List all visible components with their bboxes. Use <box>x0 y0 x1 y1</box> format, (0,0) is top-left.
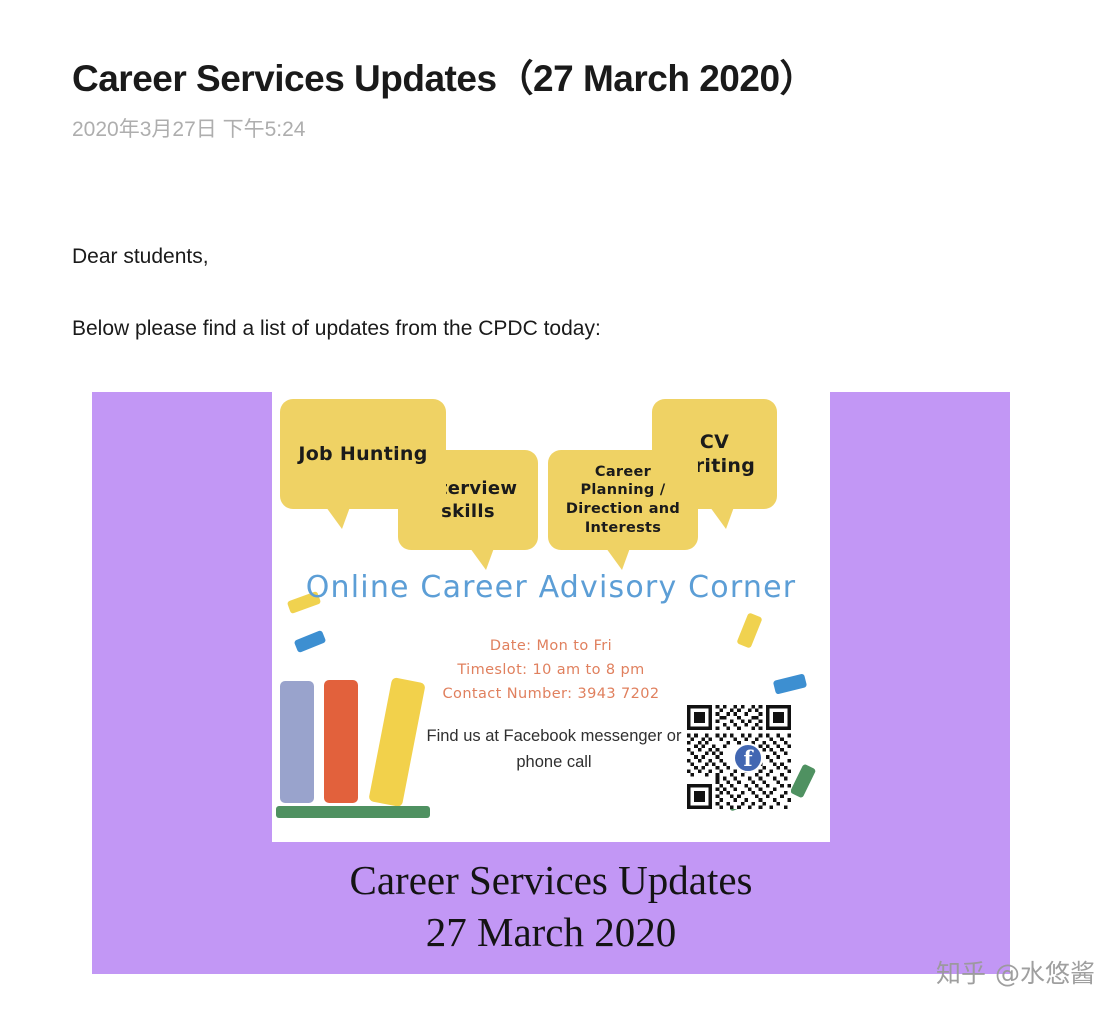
poster-caption-line1: Career Services Updates <box>92 854 1010 906</box>
bubble-tail-icon <box>326 507 350 529</box>
facebook-icon: f <box>733 743 763 773</box>
page-title: Career Services Updates（27 March 2020） <box>72 56 1032 102</box>
bookshelf-icon <box>276 806 430 818</box>
book-orange-icon <box>324 680 358 803</box>
article-body: Dear students, Below please find a list … <box>72 243 1032 388</box>
bubble-tail-icon <box>710 507 734 529</box>
qr-code-icon: f <box>687 705 791 809</box>
article-timestamp: 2020年3月27日 下午5:24 <box>72 113 1032 143</box>
bubble-tail-icon <box>606 548 630 570</box>
flyer-contact-note: Find us at Facebook messenger or phone c… <box>414 724 694 775</box>
intro-paragraph: Below please find a list of updates from… <box>72 315 1032 343</box>
greeting-paragraph: Dear students, <box>72 243 1032 271</box>
poster-caption-line2: 27 March 2020 <box>92 906 1010 958</box>
zhihu-brand-label: 知乎 <box>936 954 986 990</box>
flyer-headline: Online Career Advisory Corner <box>272 570 830 605</box>
zhihu-watermark: 知乎 @水悠酱 <box>936 954 1095 990</box>
flyer-card: Job Hunting Interview skills Career Plan… <box>272 392 830 842</box>
bubble-career-planning-label: Career Planning / Direction and Interest… <box>556 463 690 537</box>
bubble-career-planning: Career Planning / Direction and Interest… <box>548 450 698 550</box>
poster-caption: Career Services Updates 27 March 2020 <box>92 854 1010 958</box>
poster-image: Job Hunting Interview skills Career Plan… <box>92 392 1010 974</box>
confetti-green-icon <box>790 764 817 799</box>
zhihu-handle-label: @水悠酱 <box>995 954 1095 990</box>
flyer-timeslot-line: Timeslot: 10 am to 8 pm <box>272 658 830 682</box>
bubble-job-hunting: Job Hunting <box>280 399 446 509</box>
flyer-date-line: Date: Mon to Fri <box>272 634 830 658</box>
bubble-tail-icon <box>470 548 494 570</box>
bubble-job-hunting-label: Job Hunting <box>298 442 427 466</box>
article-header: Career Services Updates（27 March 2020） 2… <box>72 56 1032 143</box>
book-blue-icon <box>280 681 314 803</box>
